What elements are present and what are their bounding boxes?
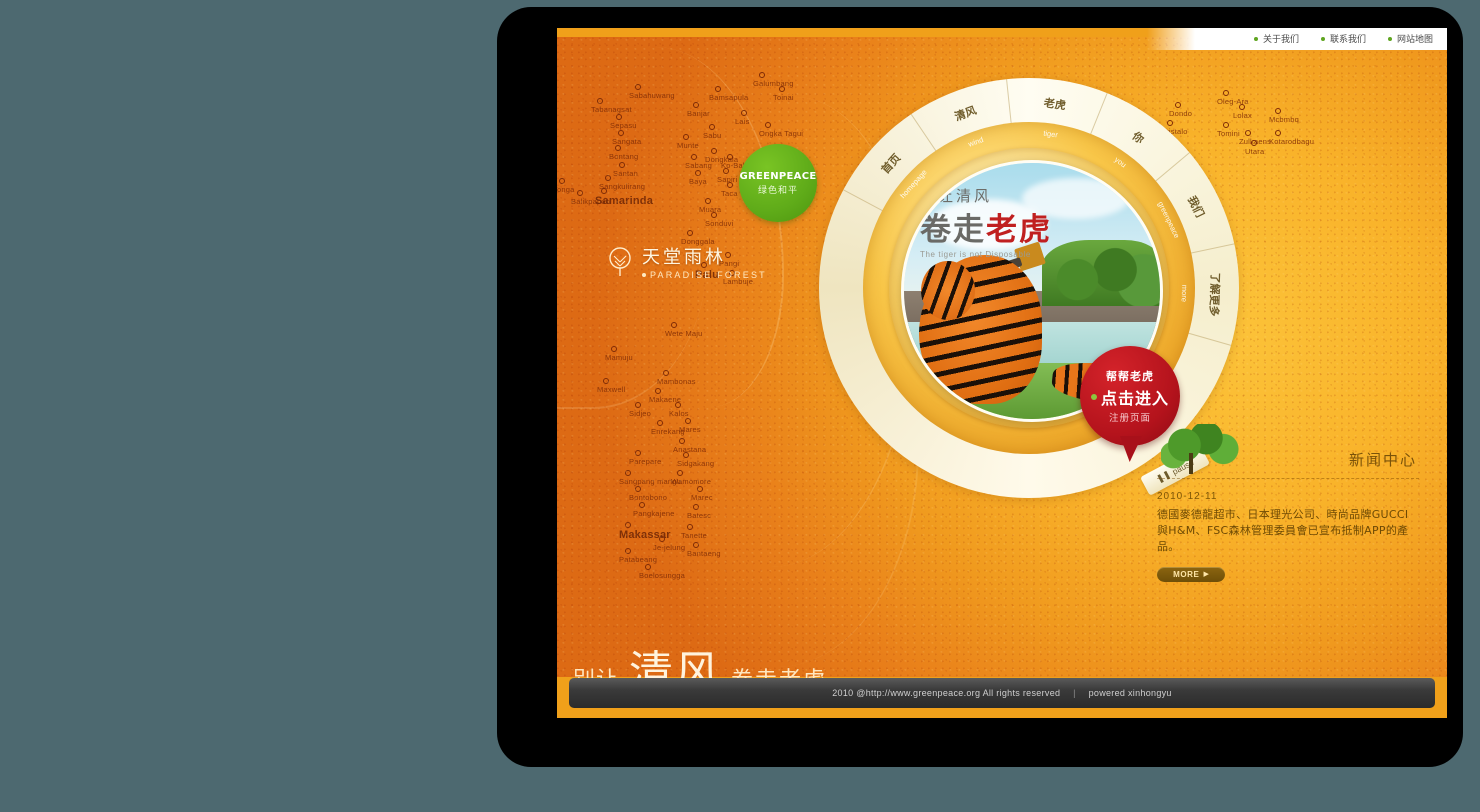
map-city-dot — [695, 170, 701, 176]
map-city-label: Sabang — [685, 161, 712, 170]
map-city-dot — [619, 162, 625, 168]
news-header: 新闻中心 — [1157, 426, 1419, 479]
coastline-1 — [582, 47, 784, 407]
map-city-label: Kalos — [669, 409, 689, 418]
map-city-dot — [616, 114, 622, 120]
topnav-item-0[interactable]: 关于我们 — [1254, 32, 1299, 45]
map-city-dot — [611, 346, 617, 352]
map-city-dot — [687, 524, 693, 530]
map-city-label: Taca — [721, 189, 738, 198]
wheel-segment-cn: 了解更多 — [1206, 272, 1224, 317]
map-city-label: Sangata — [612, 137, 641, 146]
map-city-dot — [741, 110, 747, 116]
map-city-dot — [683, 452, 689, 458]
device-frame: BalikpapanSamarindaSangkulirangSantanBon… — [497, 7, 1463, 767]
map-city-dot — [625, 548, 631, 554]
map-city-dot — [635, 486, 641, 492]
headline-big-red: 老虎 — [986, 212, 1052, 248]
map-city-label: Sangpang mangu — [619, 477, 681, 486]
greenpeace-cn-label: 绿色和平 — [758, 183, 798, 196]
paradise-forest-text: 天堂雨林 PARADISE FOREST — [642, 243, 767, 280]
map-city-label: Marec — [691, 493, 713, 502]
map-city-label: Sidgakang — [677, 459, 714, 468]
map-city-dot — [687, 230, 693, 236]
map-city-label: Makaene — [649, 395, 681, 404]
map-city-label: Parepare — [629, 457, 661, 466]
top-navigation-bar: 关于我们联系我们网站地图 — [1147, 28, 1447, 50]
news-tree-illustration — [1161, 424, 1239, 474]
map-city-dot — [727, 154, 733, 160]
footer-copyright: 2010 @http://www.greenpeace.org All righ… — [832, 688, 1060, 698]
map-city-dot — [639, 502, 645, 508]
map-city-dot — [655, 388, 661, 394]
map-city-dot — [625, 522, 631, 528]
map-city-label: Sapiri — [717, 175, 737, 184]
map-city-dot — [601, 188, 607, 194]
wheel-segment-label-wrap: 老虎 — [1024, 78, 1086, 129]
map-city-label: Mares — [679, 425, 701, 434]
news-body: 德國麥德龍超市、日本理光公司、時尚品牌GUCCI與H&M、FSC森林管理委員會已… — [1157, 507, 1419, 555]
map-city-dot — [697, 486, 703, 492]
map-city-label: Enrekang — [651, 427, 685, 436]
news-title: 新闻中心 — [1349, 449, 1417, 470]
map-city-dot — [577, 190, 583, 196]
map-city-label: Tonga — [557, 185, 574, 194]
map-city-dot — [759, 72, 765, 78]
map-city-label: Munte — [677, 141, 699, 150]
footer-credit: powered xinhongyu — [1089, 688, 1172, 698]
map-city-label: Santan — [613, 169, 638, 178]
topnav-label: 联系我们 — [1330, 32, 1366, 45]
map-city-dot — [671, 322, 677, 328]
map-city-dot — [679, 438, 685, 444]
wheel-segment-cn: 我们 — [1184, 193, 1208, 220]
map-city-label: Patabeang — [619, 555, 657, 564]
map-city-dot — [1275, 108, 1281, 114]
bullet-icon — [1388, 37, 1392, 41]
map-city-dot — [618, 130, 624, 136]
map-city-dot — [603, 378, 609, 384]
map-city-label: Galumbang — [753, 79, 794, 88]
map-city-label: Wamomore — [671, 477, 711, 486]
hero-headline: 别让清风 卷走老虎 The tiger is not Disposable — [920, 185, 1110, 259]
map-city-dot — [683, 134, 689, 140]
topnav-label: 关于我们 — [1263, 32, 1299, 45]
map-city-label: Bontobono — [629, 493, 667, 502]
footer-separator: | — [1073, 688, 1076, 698]
headline-small: 别让清风 — [920, 185, 1110, 206]
bullet-icon — [1091, 394, 1097, 400]
map-city-label: Dongkala — [705, 155, 738, 164]
map-city-label: Bantaeng — [687, 549, 721, 558]
map-city-label: Tabanagsat — [591, 105, 632, 114]
map-city-dot — [559, 178, 565, 184]
headline-big-grey: 卷走 — [920, 212, 986, 248]
callout-line-2-label: 点击进入 — [1101, 385, 1169, 409]
map-city-label: Baya — [689, 177, 707, 186]
top-navigation-list: 关于我们联系我们网站地图 — [1254, 32, 1433, 45]
tree-icon — [605, 246, 635, 278]
arrow-right-icon: ▶ — [1204, 570, 1209, 578]
map-city-dot — [615, 145, 621, 151]
photo-tiger — [919, 255, 1042, 403]
map-city-dot — [709, 124, 715, 130]
headline-big: 卷走老虎 — [920, 204, 1110, 249]
paradise-forest-cn: 天堂雨林 — [642, 243, 767, 269]
greenpeace-logo-badge[interactable]: GREENPEACE 绿色和平 — [739, 144, 817, 222]
news-center-panel: 新闻中心 2010-12-11 德國麥德龍超市、日本理光公司、時尚品牌GUCCI… — [1157, 426, 1419, 582]
wheel-segment-cn: 首页 — [877, 150, 904, 177]
wheel-segment-cn: 老虎 — [1043, 94, 1067, 113]
map-city-dot — [635, 402, 641, 408]
map-city-dot — [663, 370, 669, 376]
map-city-dot — [657, 420, 663, 426]
map-city-label: Tanette — [681, 531, 707, 540]
news-more-label: MORE — [1173, 570, 1199, 579]
map-city-label: Banjar — [687, 109, 710, 118]
map-city-dot — [675, 402, 681, 408]
map-city-dot — [1239, 104, 1245, 110]
map-city-label: Batesc — [687, 511, 711, 520]
map-city-label: Muara — [699, 205, 721, 214]
paradise-forest-en: PARADISE FOREST — [642, 270, 767, 280]
map-city-label: Mcbmbq — [1269, 115, 1299, 124]
map-city-dot — [711, 212, 717, 218]
map-city-label: Bamsapula — [709, 93, 748, 102]
callout-line-2: 点击进入 — [1091, 385, 1169, 409]
map-city-dot — [765, 122, 771, 128]
map-city-label: Anastana — [673, 445, 706, 454]
footer-text: 2010 @http://www.greenpeace.org All righ… — [832, 688, 1171, 698]
map-city-dot — [635, 450, 641, 456]
map-city-label: Sonduvi — [705, 219, 734, 228]
map-city-dot — [691, 154, 697, 160]
paradise-forest-logo[interactable]: 天堂雨林 PARADISE FOREST — [605, 243, 767, 280]
site-footer: 2010 @http://www.greenpeace.org All righ… — [569, 678, 1435, 708]
map-city-label: Je-jelung — [653, 543, 685, 552]
map-city-label: Lais — [735, 117, 750, 126]
map-city-dot — [645, 564, 651, 570]
map-city-label: Pangkajene — [633, 509, 675, 518]
map-city-label: Sidjeo — [629, 409, 651, 418]
map-city-label: Wete Maju — [665, 329, 703, 338]
page-viewport: BalikpapanSamarindaSangkulirangSantanBon… — [557, 28, 1447, 718]
wheel-segment-label-wrap: 了解更多 — [1192, 266, 1238, 324]
topnav-item-2[interactable]: 网站地图 — [1388, 32, 1433, 45]
callout-line-1: 帮帮老虎 — [1106, 368, 1154, 384]
map-city-dot — [693, 542, 699, 548]
map-city-label: Bontang — [609, 152, 638, 161]
map-city-dot — [693, 504, 699, 510]
map-city-dot — [625, 470, 631, 476]
map-city-dot — [711, 148, 717, 154]
map-city-label: Zulkaens — [1239, 137, 1271, 146]
map-city-dot — [705, 198, 711, 204]
map-city-label: Boelosungga — [639, 571, 685, 580]
topnav-label: 网站地图 — [1397, 32, 1433, 45]
map-city-label: Mamuju — [605, 353, 633, 362]
bullet-icon — [1321, 37, 1325, 41]
headline-english: The tiger is not Disposable — [920, 250, 1110, 259]
map-city-label: Sabu — [703, 131, 721, 140]
wheel-segment-en: more — [1179, 271, 1190, 315]
map-city-label: Ongka Tagui — [759, 129, 803, 138]
map-city-dot — [685, 418, 691, 424]
map-city-dot — [779, 86, 785, 92]
map-city-dot — [1251, 140, 1257, 146]
map-city-label: Sepasu — [610, 121, 637, 130]
news-date: 2010-12-11 — [1157, 491, 1419, 502]
map-city-label: Sangkulirang — [599, 182, 645, 191]
map-city-dot — [659, 536, 665, 542]
map-city-dot — [605, 175, 611, 181]
map-city-label: Sabahuwang — [629, 91, 675, 100]
wheel-segment-cn: 你 — [1129, 128, 1147, 147]
map-city-dot — [677, 470, 683, 476]
map-city-dot — [727, 182, 733, 188]
coastline-4 — [557, 157, 707, 409]
map-city-label: Utara — [1245, 147, 1264, 156]
wheel-segment-cn: 清风 — [952, 102, 978, 125]
map-city-dot — [1275, 130, 1281, 136]
map-city-dot — [723, 168, 729, 174]
greenpeace-en-label: GREENPEACE — [739, 171, 816, 182]
map-city-dot — [693, 102, 699, 108]
photo-tiger-head — [921, 261, 975, 320]
map-city-label: Makassar — [619, 529, 671, 541]
map-city-label: Maxwell — [597, 385, 626, 394]
map-city-label: Toinai — [773, 93, 794, 102]
map-city-label: Balikpapan — [571, 197, 610, 206]
bullet-icon — [1254, 37, 1258, 41]
callout-line-3: 注册页面 — [1109, 410, 1151, 424]
map-city-label: Samarinda — [595, 195, 653, 207]
paradise-forest-en-label: PARADISE FOREST — [650, 270, 767, 280]
map-city-dot — [597, 98, 603, 104]
map-city-label: Kotarodbagu — [1269, 137, 1314, 146]
website-canvas: BalikpapanSamarindaSangkulirangSantanBon… — [557, 28, 1447, 718]
map-city-dot — [635, 84, 641, 90]
topnav-item-1[interactable]: 联系我们 — [1321, 32, 1366, 45]
news-more-button[interactable]: MORE ▶ — [1157, 567, 1225, 582]
map-city-dot — [1245, 130, 1251, 136]
map-city-dot — [715, 86, 721, 92]
map-city-label: Mambonas — [657, 377, 696, 386]
bullet-icon — [642, 273, 646, 277]
